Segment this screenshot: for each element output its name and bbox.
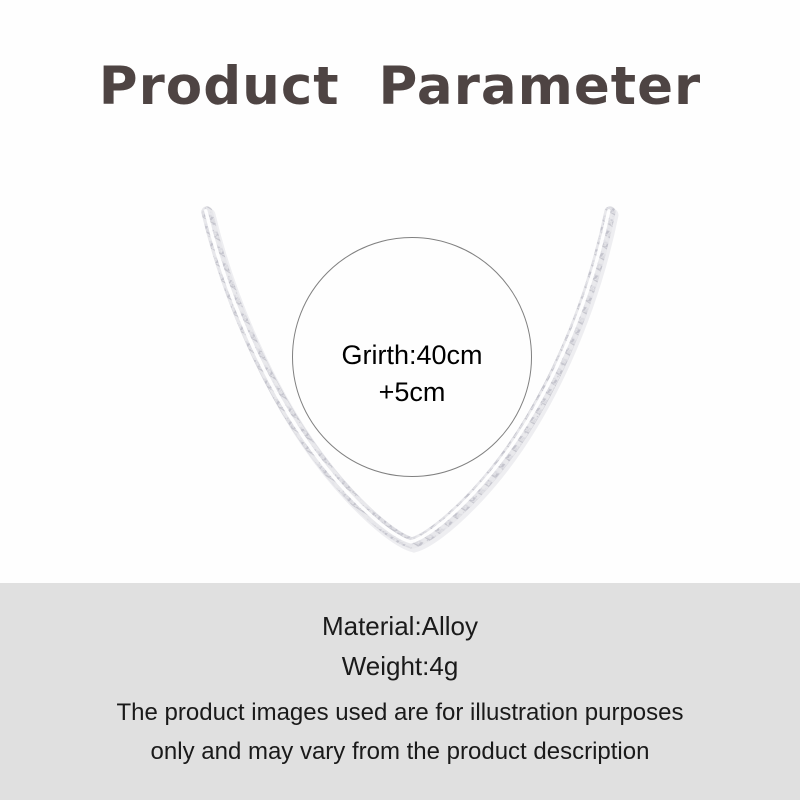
product-parameter-image: Grirth:40cm +5cm Product Parameter Mater… [0,0,800,800]
girth-measurement-label: Grirth:40cm +5cm [292,337,532,411]
specs-footer: Material:Alloy Weight:4g The product ima… [0,583,800,800]
page-title: Product Parameter [0,58,800,116]
spec-weight: Weight:4g [0,651,800,681]
spec-material: Material:Alloy [0,611,800,641]
disclaimer-line-2: only and may vary from the product descr… [0,738,800,766]
girth-label-line-1: Grirth:40cm [341,340,482,370]
girth-label-line-2: +5cm [292,374,532,411]
disclaimer-line-1: The product images used are for illustra… [0,699,800,727]
